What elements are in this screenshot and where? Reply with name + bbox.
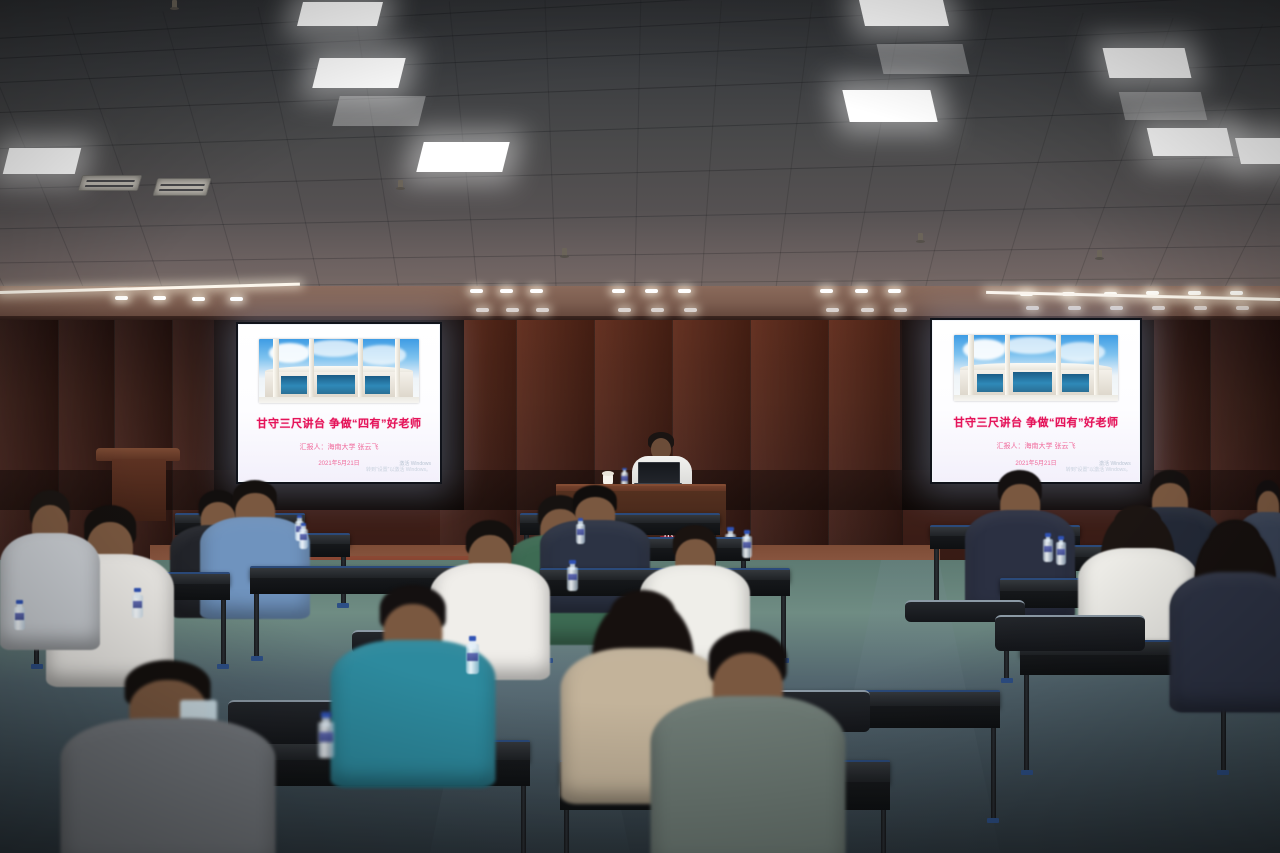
fire-sprinkler <box>918 233 923 242</box>
water-bottle[interactable] <box>576 518 585 544</box>
desk-leg <box>934 549 939 601</box>
water-bottle[interactable] <box>567 560 578 591</box>
recessed-downlight <box>888 289 901 293</box>
recessed-downlight <box>470 289 483 293</box>
recessed-downlight <box>612 289 625 293</box>
recessed-panel-light-dim <box>332 96 425 126</box>
recessed-downlight <box>192 297 205 301</box>
recessed-downlight <box>645 289 658 293</box>
recessed-panel-light <box>1147 128 1233 156</box>
recessed-downlight-lower <box>536 308 549 312</box>
torso <box>60 718 275 853</box>
recessed-downlight <box>678 289 691 293</box>
water-bottle[interactable] <box>299 523 308 549</box>
desk-leg <box>521 786 526 853</box>
water-bottle[interactable] <box>14 600 25 630</box>
torso <box>0 533 100 650</box>
recessed-downlight-lower <box>1026 306 1039 310</box>
recessed-downlight <box>530 289 543 293</box>
recessed-downlight-lower <box>861 308 874 312</box>
desk-foot <box>1001 678 1013 683</box>
recessed-downlight-lower <box>826 308 839 312</box>
air-conditioning-vent <box>152 178 211 196</box>
recessed-downlight-lower <box>618 308 631 312</box>
chair-back[interactable] <box>995 615 1145 651</box>
recessed-downlight-lower <box>1068 306 1081 310</box>
desk-foot <box>31 664 43 669</box>
water-bottle[interactable] <box>1043 533 1053 562</box>
fire-sprinkler <box>562 248 567 257</box>
recessed-panel-light <box>416 142 509 172</box>
recessed-downlight-lower <box>651 308 664 312</box>
attendee-gray-polo-mask <box>60 660 275 853</box>
recessed-downlight <box>153 296 166 300</box>
recessed-downlight-lower <box>476 308 489 312</box>
water-bottle[interactable] <box>132 588 143 618</box>
recessed-downlight <box>855 289 868 293</box>
water-bottle[interactable] <box>318 712 334 758</box>
recessed-downlight <box>1188 291 1201 295</box>
attendee-gray-green-front <box>650 630 845 853</box>
recessed-downlight-lower <box>1194 306 1207 310</box>
desk-foot <box>1217 770 1229 775</box>
tea-cup-lid <box>602 471 614 476</box>
torso <box>1170 572 1280 712</box>
recessed-downlight-lower <box>506 308 519 312</box>
desk-foot <box>987 818 999 823</box>
desk-leg <box>991 728 996 818</box>
recessed-downlight <box>1230 291 1243 295</box>
recessed-panel-light <box>3 148 81 174</box>
recessed-downlight <box>820 289 833 293</box>
recessed-panel-light <box>1235 138 1280 164</box>
desk-leg <box>221 600 226 664</box>
desk-leg <box>254 594 259 656</box>
fire-sprinkler <box>1097 250 1102 259</box>
recessed-downlight-lower <box>1110 306 1123 310</box>
recessed-panel-light <box>297 2 383 26</box>
torso <box>650 696 845 853</box>
recessed-downlight-lower <box>1152 306 1165 310</box>
fire-sprinkler <box>398 180 403 189</box>
recessed-panel-light <box>312 58 405 88</box>
recessed-panel-light <box>859 0 949 26</box>
recessed-panel-light <box>1103 48 1192 78</box>
screen-bezel-left <box>236 322 442 484</box>
attendee-longhair-navy <box>1170 520 1280 700</box>
right-projection-screen[interactable]: 甘守三尺讲台 争做“四有”好老师 汇报人：海南大学 张云飞 2021年5月21日… <box>930 318 1142 484</box>
suspended-ceiling <box>0 0 1280 300</box>
air-conditioning-vent <box>78 175 143 191</box>
recessed-downlight-lower <box>894 308 907 312</box>
water-bottle[interactable] <box>1056 536 1066 565</box>
recessed-downlight-lower <box>1236 306 1249 310</box>
left-projection-screen[interactable]: 甘守三尺讲台 争做“四有”好老师 汇报人：海南大学 张云飞 2021年5月21日… <box>236 322 442 484</box>
desk-leg <box>564 810 569 853</box>
recessed-downlight <box>500 289 513 293</box>
desk-leg <box>1024 675 1029 770</box>
recessed-downlight <box>230 297 243 301</box>
recessed-panel-light <box>842 90 937 122</box>
water-bottle[interactable] <box>466 636 479 674</box>
recessed-panel-light-dim <box>1119 92 1207 120</box>
recessed-downlight <box>115 296 128 300</box>
fire-sprinkler <box>172 0 177 9</box>
attendee-teal-tshirt <box>330 585 495 775</box>
recessed-downlight-lower <box>684 308 697 312</box>
lecture-hall-photo: 甘守三尺讲台 争做“四有”好老师 汇报人：海南大学 张云飞 2021年5月21日… <box>0 0 1280 853</box>
screen-bezel-right <box>930 318 1142 484</box>
desk-foot <box>1021 770 1033 775</box>
desk-leg <box>881 810 886 853</box>
recessed-panel-light-dim <box>877 44 970 74</box>
